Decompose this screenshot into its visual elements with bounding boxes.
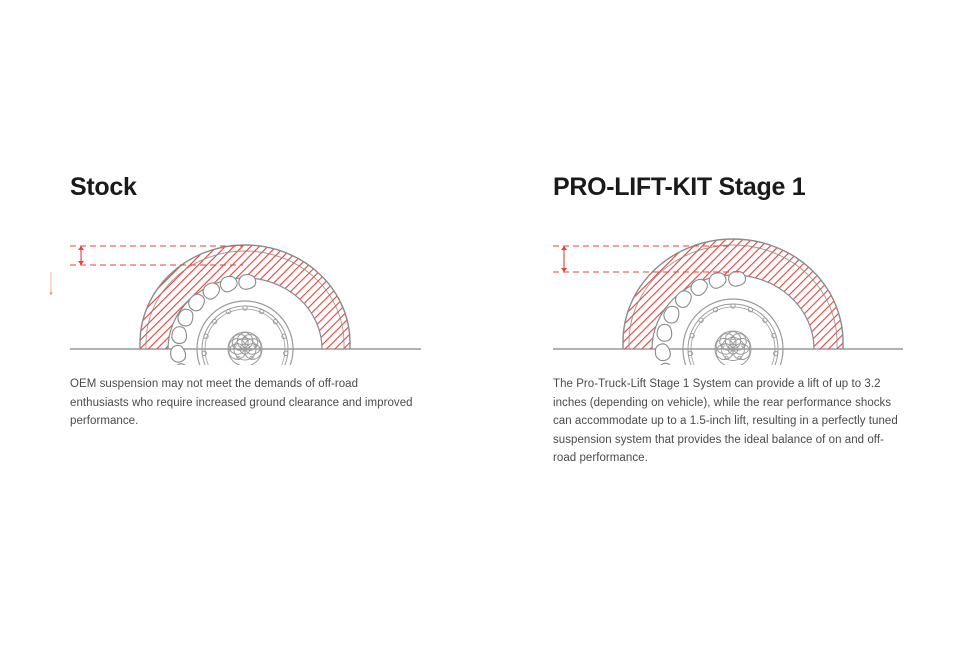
panel-description-pro-lift-kit: The Pro-Truck-Lift Stage 1 System can pr… bbox=[553, 375, 905, 468]
wheel-rim-stock bbox=[197, 301, 293, 365]
figure-stock bbox=[0, 225, 485, 365]
tire-tread-stock bbox=[140, 245, 350, 349]
comparison-page: Stock bbox=[0, 0, 970, 647]
figure-pro-lift-kit bbox=[485, 225, 970, 365]
panel-description-stock: OEM suspension may not meet the demands … bbox=[70, 375, 420, 431]
panel-pro-lift-kit: PRO-LIFT-KIT Stage 1 bbox=[485, 0, 970, 647]
panel-stock: Stock bbox=[0, 0, 485, 647]
page-title-pro-lift-kit: PRO-LIFT-KIT Stage 1 bbox=[553, 172, 805, 202]
page-title-stock: Stock bbox=[70, 172, 137, 202]
tire-tread-lifted bbox=[623, 239, 843, 349]
reference-tick-stock bbox=[49, 272, 52, 295]
wheel-rim-lifted bbox=[683, 299, 783, 365]
